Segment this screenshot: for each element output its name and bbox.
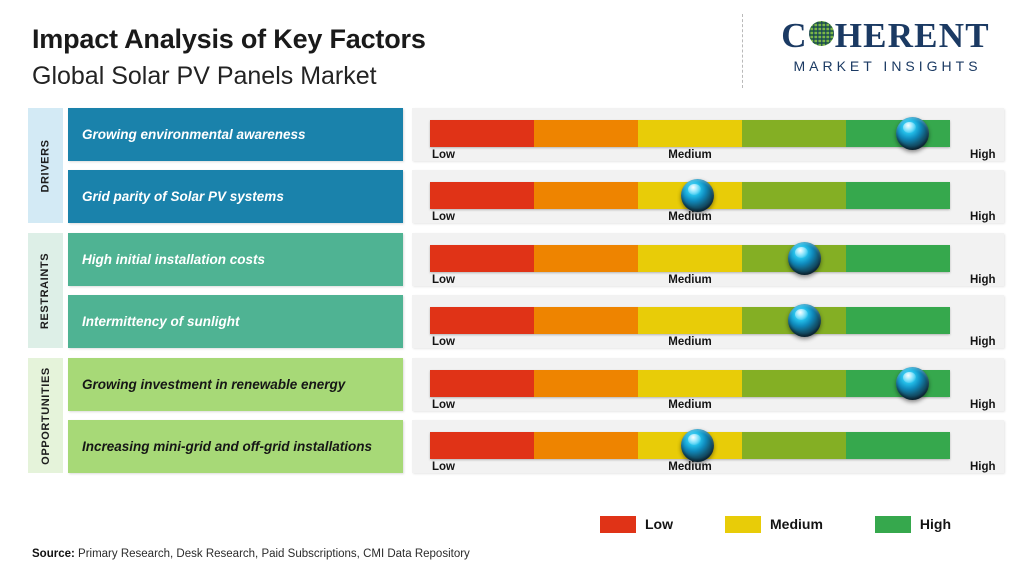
gauge-segment-1	[430, 307, 534, 334]
gauge-segment-5	[846, 182, 950, 209]
gauge-scale: LowMediumHigh	[430, 149, 950, 167]
slide-root: Impact Analysis of Key Factors Global So…	[0, 0, 1024, 576]
scale-label-low: Low	[432, 461, 455, 473]
factor-label-box[interactable]: Increasing mini-grid and off-grid instal…	[68, 420, 403, 473]
gauge-segment-3	[638, 120, 742, 147]
legend: LowMediumHigh	[600, 512, 1000, 536]
legend-item-high: High	[875, 516, 951, 533]
group-rows: Growing environmental awarenessLowMedium…	[68, 108, 1004, 223]
scale-label-low: Low	[432, 336, 455, 348]
gauge-segment-2	[534, 432, 638, 459]
gauge-segment-4	[742, 432, 846, 459]
gauge-segment-4	[742, 120, 846, 147]
factor-group-restraints: RESTRAINTSHigh initial installation cost…	[28, 233, 1004, 348]
scale-label-medium: Medium	[668, 211, 711, 223]
legend-swatch	[725, 516, 761, 533]
gauge-scale: LowMediumHigh	[430, 211, 950, 229]
logo-tagline: MARKET INSIGHTS	[761, 58, 1010, 74]
gauge-segment-1	[430, 370, 534, 397]
factor-label-text: Intermittency of sunlight	[82, 313, 240, 330]
scale-label-high: High	[970, 399, 996, 411]
scale-label-high: High	[970, 274, 996, 286]
factor-group-opportunities: OPPORTUNITIESGrowing investment in renew…	[28, 358, 1004, 473]
gauge-segment-3	[638, 245, 742, 272]
impact-matrix: DRIVERSGrowing environmental awarenessLo…	[0, 108, 1024, 496]
source-label: Source:	[32, 548, 75, 560]
factor-row[interactable]: Growing environmental awarenessLowMedium…	[68, 108, 1004, 161]
legend-label: Medium	[770, 516, 823, 532]
impact-gauge-panel[interactable]: LowMediumHigh	[412, 108, 1004, 161]
impact-marker[interactable]	[896, 367, 929, 400]
group-tab-label: OPPORTUNITIES	[40, 367, 52, 465]
gauge-segment-2	[534, 245, 638, 272]
legend-item-low: Low	[600, 516, 673, 533]
factor-group-drivers: DRIVERSGrowing environmental awarenessLo…	[28, 108, 1004, 223]
impact-gauge-panel[interactable]: LowMediumHigh	[412, 295, 1004, 348]
gauge-segment-2	[534, 307, 638, 334]
factor-label-box[interactable]: Intermittency of sunlight	[68, 295, 403, 348]
scale-label-low: Low	[432, 399, 455, 411]
gauge-segment-5	[846, 245, 950, 272]
factor-label-box[interactable]: High initial installation costs	[68, 233, 403, 286]
gauge-segment-3	[638, 307, 742, 334]
logo-wordmark: C HERENT	[761, 14, 1010, 56]
gauge-segment-3	[638, 370, 742, 397]
gauge-segment-2	[534, 370, 638, 397]
group-tab-label: RESTRAINTS	[40, 252, 52, 328]
factor-label-box[interactable]: Growing investment in renewable energy	[68, 358, 403, 411]
gauge-segment-2	[534, 120, 638, 147]
gauge-scale: LowMediumHigh	[430, 336, 950, 354]
scale-label-low: Low	[432, 149, 455, 161]
factor-row[interactable]: Increasing mini-grid and off-grid instal…	[68, 420, 1004, 473]
factor-row[interactable]: Growing investment in renewable energyLo…	[68, 358, 1004, 411]
scale-label-low: Low	[432, 211, 455, 223]
page-title: Impact Analysis of Key Factors	[32, 22, 426, 56]
factor-row[interactable]: Grid parity of Solar PV systemsLowMedium…	[68, 170, 1004, 223]
group-rows: Growing investment in renewable energyLo…	[68, 358, 1004, 473]
gauge-segment-5	[846, 307, 950, 334]
factor-label-text: Increasing mini-grid and off-grid instal…	[82, 438, 372, 455]
group-tab-label: DRIVERS	[40, 139, 52, 192]
impact-gauge-bar	[430, 120, 950, 147]
gauge-segment-4	[742, 182, 846, 209]
impact-gauge-panel[interactable]: LowMediumHigh	[412, 170, 1004, 223]
scale-label-medium: Medium	[668, 274, 711, 286]
scale-label-medium: Medium	[668, 399, 711, 411]
impact-gauge-panel[interactable]: LowMediumHigh	[412, 420, 1004, 473]
factor-label-text: Grid parity of Solar PV systems	[82, 188, 284, 205]
factor-row[interactable]: High initial installation costsLowMedium…	[68, 233, 1004, 286]
globe-icon	[809, 21, 834, 46]
company-logo: C HERENT MARKET INSIGHTS	[742, 14, 1010, 88]
impact-gauge-bar	[430, 307, 950, 334]
legend-item-medium: Medium	[725, 516, 823, 533]
gauge-scale: LowMediumHigh	[430, 461, 950, 479]
group-rows: High initial installation costsLowMedium…	[68, 233, 1004, 348]
gauge-segment-1	[430, 182, 534, 209]
source-note: Source: Primary Research, Desk Research,…	[32, 548, 470, 560]
legend-swatch	[600, 516, 636, 533]
gauge-segment-5	[846, 432, 950, 459]
factor-label-box[interactable]: Growing environmental awareness	[68, 108, 403, 161]
legend-label: Low	[645, 516, 673, 532]
title-block: Impact Analysis of Key Factors Global So…	[32, 22, 426, 93]
legend-label: High	[920, 516, 951, 532]
impact-marker[interactable]	[896, 117, 929, 150]
factor-label-text: Growing investment in renewable energy	[82, 376, 345, 393]
logo-letter-c: C	[781, 18, 807, 53]
factor-label-box[interactable]: Grid parity of Solar PV systems	[68, 170, 403, 223]
gauge-segment-1	[430, 432, 534, 459]
factor-row[interactable]: Intermittency of sunlightLowMediumHigh	[68, 295, 1004, 348]
scale-label-high: High	[970, 336, 996, 348]
gauge-segment-1	[430, 120, 534, 147]
logo-letters-herent: HERENT	[835, 18, 990, 53]
impact-gauge-bar	[430, 245, 950, 272]
gauge-scale: LowMediumHigh	[430, 274, 950, 292]
impact-gauge-panel[interactable]: LowMediumHigh	[412, 233, 1004, 286]
impact-gauge-bar	[430, 370, 950, 397]
page-subtitle: Global Solar PV Panels Market	[32, 59, 426, 93]
group-tab-opportunities: OPPORTUNITIES	[28, 358, 63, 473]
factor-label-text: High initial installation costs	[82, 251, 265, 268]
gauge-segment-2	[534, 182, 638, 209]
scale-label-high: High	[970, 149, 996, 161]
gauge-scale: LowMediumHigh	[430, 399, 950, 417]
impact-gauge-panel[interactable]: LowMediumHigh	[412, 358, 1004, 411]
group-tab-restraints: RESTRAINTS	[28, 233, 63, 348]
scale-label-medium: Medium	[668, 336, 711, 348]
scale-label-medium: Medium	[668, 461, 711, 473]
scale-label-high: High	[970, 211, 996, 223]
factor-label-text: Growing environmental awareness	[82, 126, 306, 143]
source-text: Primary Research, Desk Research, Paid Su…	[75, 548, 470, 560]
gauge-segment-4	[742, 370, 846, 397]
scale-label-medium: Medium	[668, 149, 711, 161]
scale-label-high: High	[970, 461, 996, 473]
legend-swatch	[875, 516, 911, 533]
gauge-segment-1	[430, 245, 534, 272]
slide-header: Impact Analysis of Key Factors Global So…	[0, 0, 1024, 104]
scale-label-low: Low	[432, 274, 455, 286]
group-tab-drivers: DRIVERS	[28, 108, 63, 223]
